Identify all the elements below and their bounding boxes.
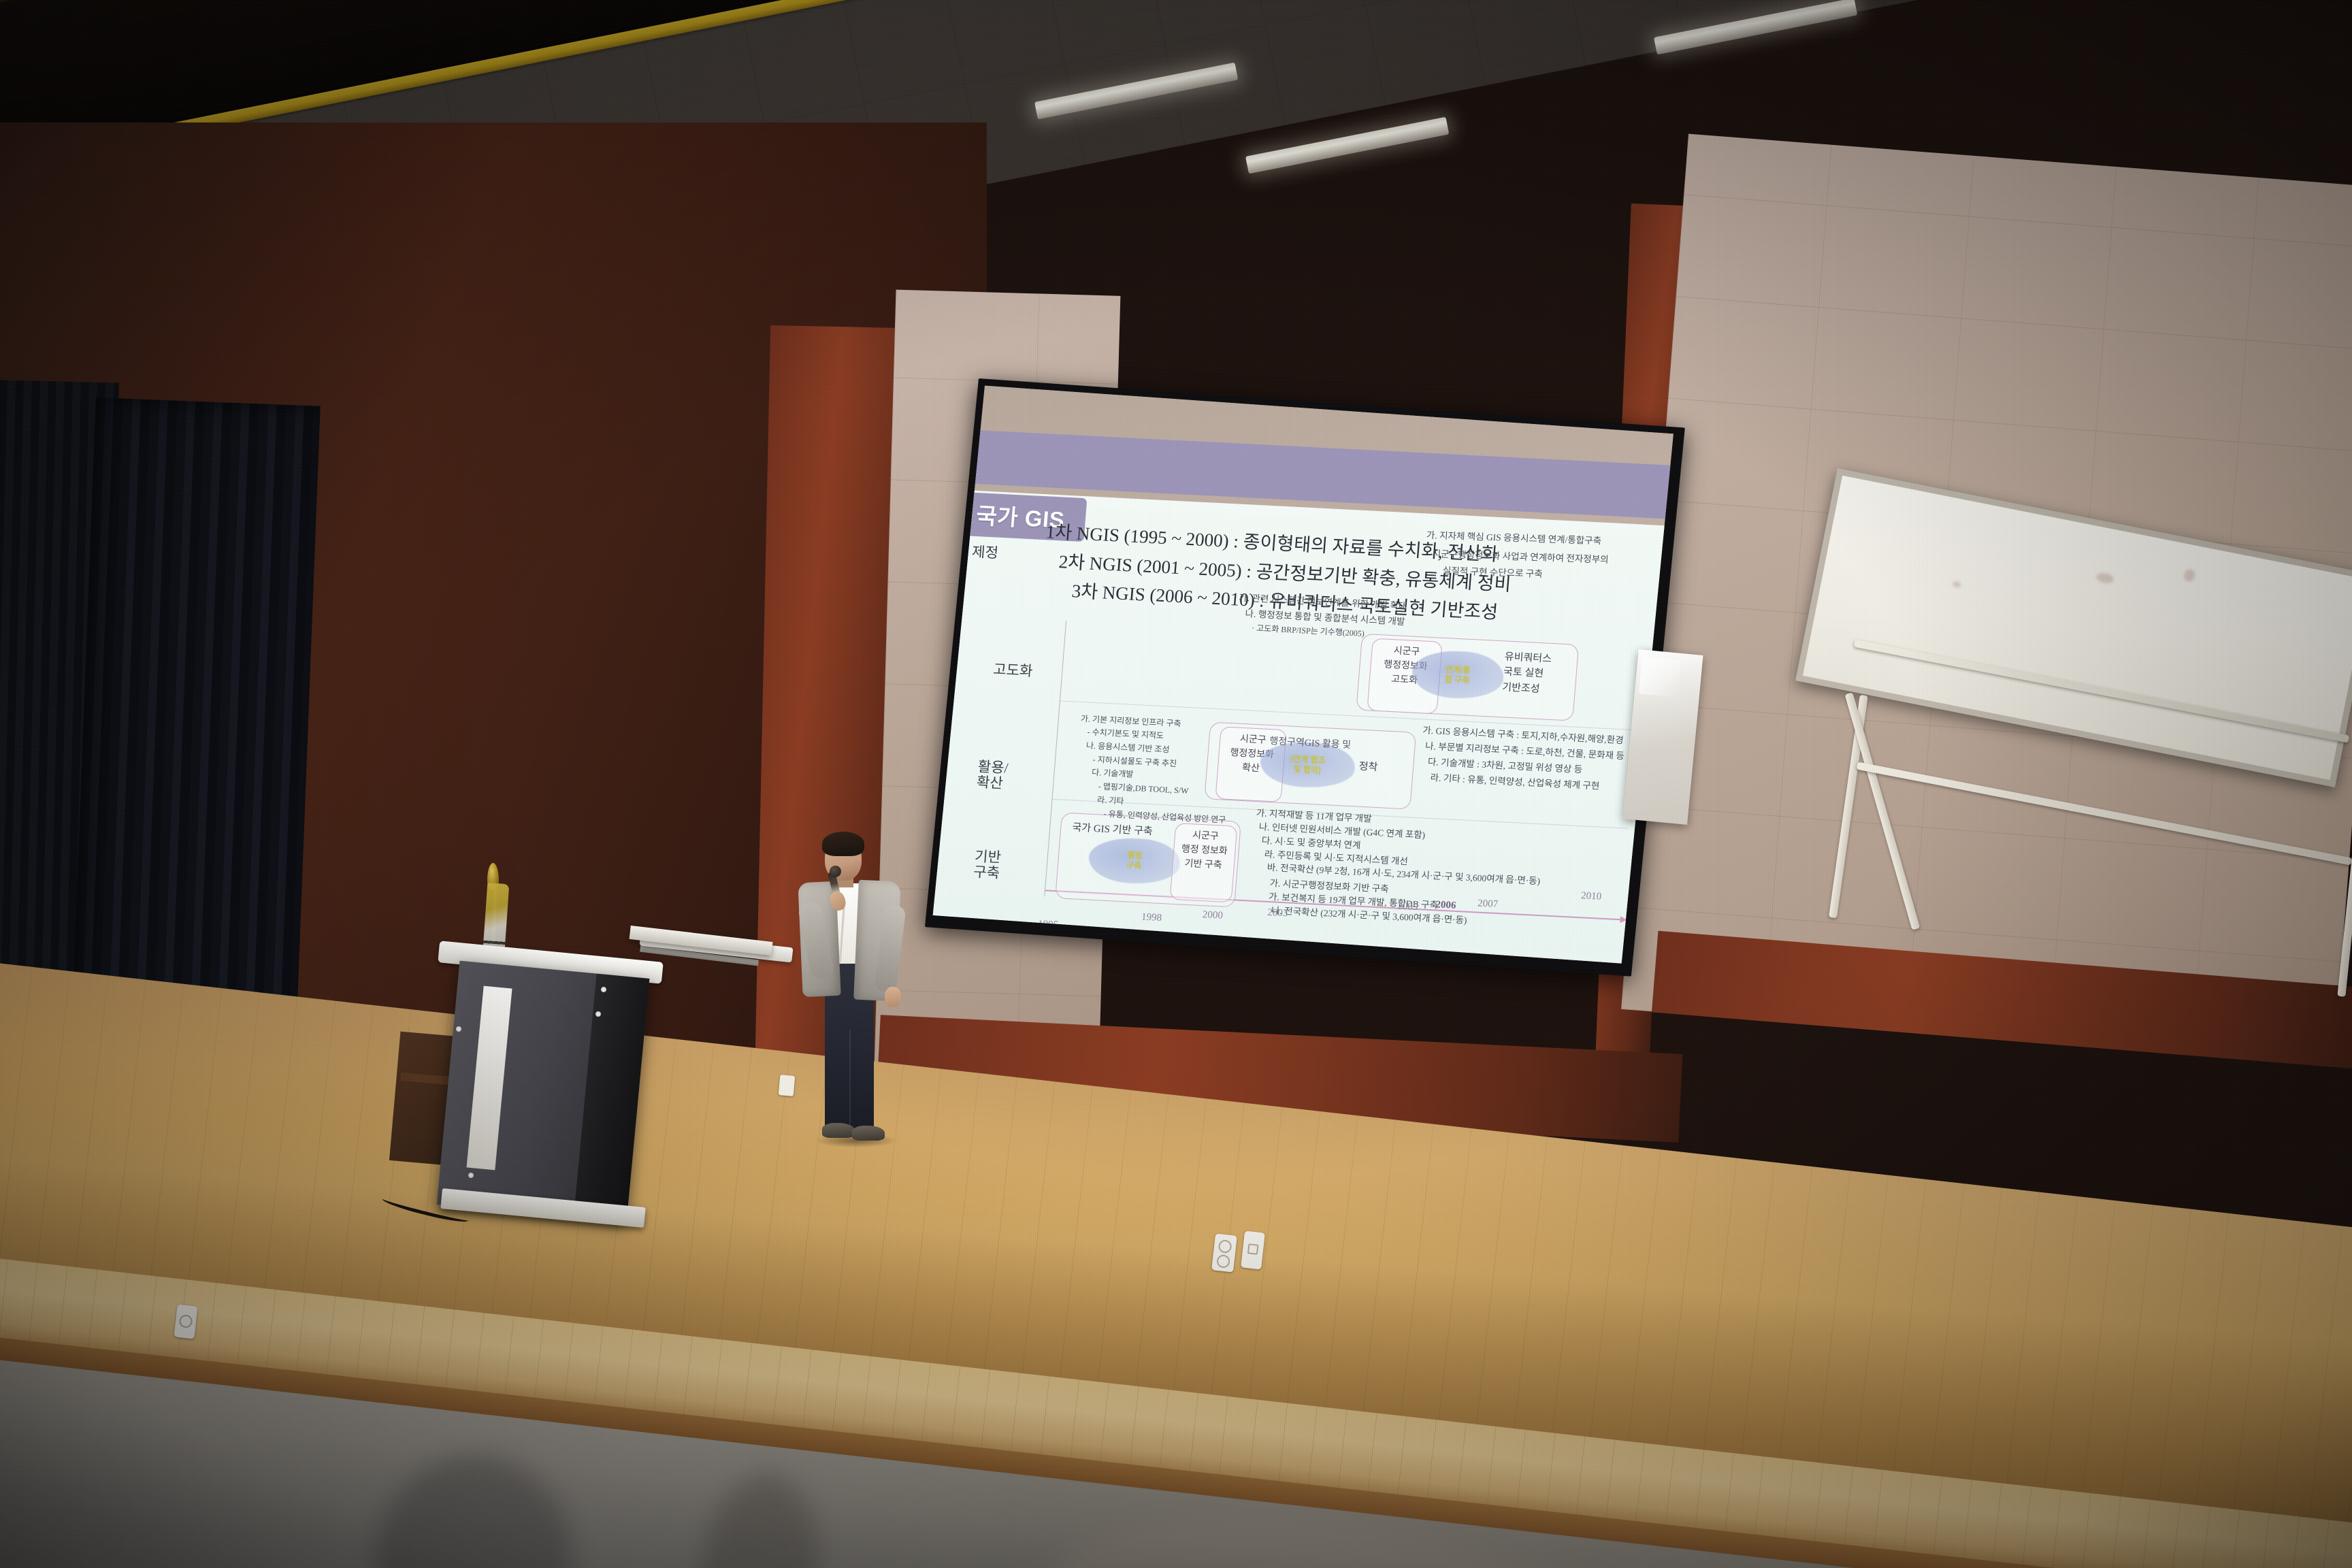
chart-xtick-2006: 2006 <box>1435 899 1456 911</box>
podium-fastener-4 <box>468 1173 474 1178</box>
outlet-socket-d <box>179 1314 193 1328</box>
diagram-tab-base: 시군구행정 정보화기반 구축 <box>1169 823 1237 902</box>
wall-outlet-behind-presenter[interactable] <box>779 1075 796 1096</box>
diagram-cloud-base-label: 행정구축 <box>1087 836 1181 885</box>
screen-surface: 국가 GIS 제정 1차 NGIS (1995 ~ 2000) : 종이형태의 … <box>933 386 1673 964</box>
outlet-socket-b <box>1216 1254 1230 1269</box>
presenter-shoe-left <box>822 1123 855 1138</box>
diagram-cloud-advanced-label: 연계/통합 구축 <box>1410 649 1505 701</box>
chart-row-label-advanced: 고도화 <box>992 661 1033 679</box>
whiteboard-smudge-1 <box>2095 572 2114 585</box>
chart-row-label-use: 활용/확산 <box>976 759 1009 791</box>
diagram-label-advanced: 유비쿼터스국토 실현기반조성 <box>1501 649 1552 698</box>
chart-xtick-2000: 2000 <box>1202 909 1223 921</box>
diagram-cloud-base: 행정구축 <box>1087 836 1181 885</box>
presentation-slide: 국가 GIS 제정 1차 NGIS (1995 ~ 2000) : 종이형태의 … <box>933 489 1673 963</box>
presenter[interactable] <box>789 829 946 1169</box>
microphone-head-icon <box>830 866 841 877</box>
podium[interactable] <box>436 931 789 1251</box>
presenter-shoe-right <box>852 1126 885 1141</box>
slide-note-left-e: 다. 기술개발 <box>1091 767 1134 781</box>
presenter-hair <box>822 832 864 856</box>
chart-row-label-base: 기반구축 <box>973 848 1001 881</box>
diagram-cloud-advanced: 연계/통합 구축 <box>1410 649 1505 701</box>
projection-screen[interactable]: 국가 GIS 제정 1차 NGIS (1995 ~ 2000) : 종이형태의 … <box>925 378 1685 977</box>
chart-xtick-2010: 2010 <box>1580 890 1601 902</box>
floor-outlet-left[interactable] <box>1211 1233 1237 1272</box>
presenter-hand-right <box>885 987 901 1007</box>
podium-fastener-2 <box>595 1011 601 1017</box>
slide-note-left-b: - 수치기본도 및 지적도 <box>1086 726 1164 742</box>
whiteboard-smudge-3 <box>1952 581 1961 588</box>
slide-note-left-g: 라. 기타 <box>1096 794 1124 807</box>
chart-xtick-2007: 2007 <box>1477 898 1498 910</box>
chart-xtick-2003: 2003 <box>1267 906 1288 919</box>
outlet-socket-a <box>1218 1239 1232 1254</box>
outlet-socket-c <box>1247 1243 1259 1255</box>
chart-xtick-1998: 1998 <box>1141 911 1162 924</box>
podium-fastener-3 <box>456 1026 461 1032</box>
podium-body <box>437 961 650 1223</box>
stage-edge-outlet-far-left[interactable] <box>174 1304 197 1339</box>
chart-xtick-2005: 2005 <box>1396 901 1418 913</box>
whiteboard-smudge-2 <box>2183 568 2196 583</box>
diagram-label-use: 정착 <box>1358 758 1378 773</box>
slide-left-label: 제정 <box>971 544 998 561</box>
auditorium-scene: 국가 GIS 제정 1차 NGIS (1995 ~ 2000) : 종이형태의 … <box>0 0 2352 1568</box>
floor-outlet-right[interactable] <box>1241 1230 1265 1269</box>
podium-fastener-1 <box>601 987 606 992</box>
